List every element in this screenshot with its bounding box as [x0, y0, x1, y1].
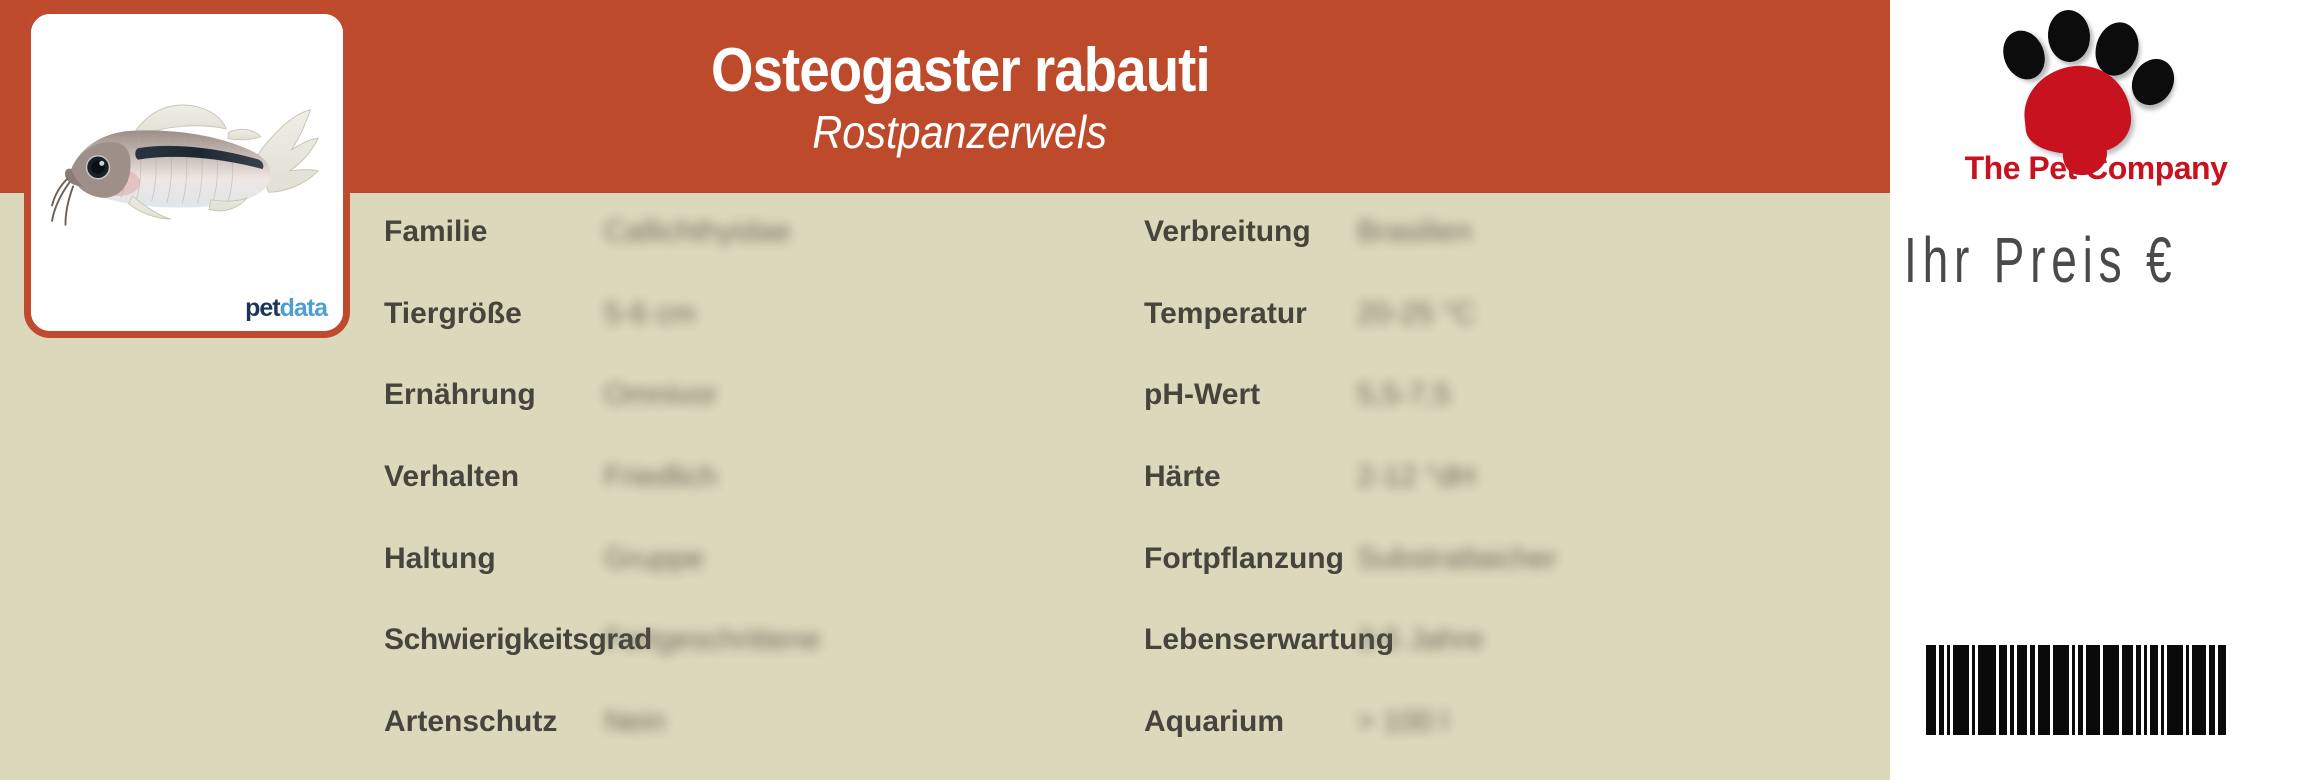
attribute-row: Artenschutz Nein — [384, 683, 1134, 765]
attribute-label: pH-Wert — [1144, 378, 1260, 412]
barcode-bar — [2078, 645, 2083, 735]
barcode-bar — [2053, 645, 2069, 735]
barcode-bar — [2086, 645, 2100, 735]
price-label: Osteogaster rabauti Rostpanzerwels — [0, 0, 2303, 780]
barcode-bar — [2161, 645, 2164, 735]
attribute-row: Haltung Gruppe — [384, 520, 1134, 602]
info-panel: Osteogaster rabauti Rostpanzerwels — [0, 0, 1890, 780]
title-block: Osteogaster rabauti Rostpanzerwels — [340, 4, 1580, 192]
attribute-grid: Familie Callichthyidae Tiergröße 5-6 cm … — [0, 193, 1890, 780]
attribute-value: Brasilien — [1357, 215, 1472, 249]
attribute-value: 5-6 cm — [604, 297, 696, 331]
attribute-label: Aquarium — [1144, 705, 1284, 739]
paw-print-icon — [1996, 6, 2208, 148]
attribute-row: Schwierigkeitsgrad Fortgeschrittene — [384, 601, 1134, 683]
attribute-label: Artenschutz — [384, 705, 557, 739]
attribute-label: Tiergröße — [384, 297, 522, 331]
barcode-icon — [1926, 645, 2266, 735]
barcode-bar — [2103, 645, 2119, 735]
barcode-bar — [1926, 645, 1936, 735]
attribute-value: Callichthyidae — [604, 215, 791, 249]
attribute-value: 5,5-7,5 — [1357, 378, 1450, 412]
attribute-row: Härte 2-12 °dH — [1144, 438, 1890, 520]
barcode-bar — [2209, 645, 2215, 735]
attribute-value: Nein — [604, 705, 666, 739]
scientific-name: Osteogaster rabauti — [711, 39, 1210, 102]
price-field: Ihr Preis € — [1904, 200, 2303, 320]
attribute-value: 2-12 °dH — [1357, 460, 1476, 494]
attribute-row: pH-Wert 5,5-7,5 — [1144, 356, 1890, 438]
attribute-column-left: Familie Callichthyidae Tiergröße 5-6 cm … — [384, 193, 1134, 780]
attribute-label: Haltung — [384, 542, 496, 576]
brand-logo: The Pet Company — [1918, 2, 2274, 198]
barcode-bar — [2136, 645, 2141, 735]
price-label-text: Ihr Preis € — [1904, 223, 2177, 297]
barcode-bar — [2150, 645, 2158, 735]
attribute-row: Fortpflanzung Substratlaicher — [1144, 520, 1890, 602]
attribute-row: Temperatur 20-25 °C — [1144, 275, 1890, 357]
barcode-bar — [2072, 645, 2075, 735]
barcode-bar — [1978, 645, 1996, 735]
attribute-row: Lebenserwartung 3-5 Jahre — [1144, 601, 1890, 683]
brand-name: The Pet Company — [1918, 150, 2274, 187]
barcode-bar — [2038, 645, 2050, 735]
barcode-bar — [2030, 645, 2035, 735]
attribute-value: Gruppe — [604, 542, 704, 576]
barcode-bar — [2192, 645, 2206, 735]
barcode-bar — [2122, 645, 2133, 735]
barcode-bar — [2186, 645, 2189, 735]
attribute-label: Verhalten — [384, 460, 519, 494]
attribute-row: Verbreitung Brasilien — [1144, 193, 1890, 275]
attribute-label: Ernährung — [384, 378, 536, 412]
attribute-value: 3-5 Jahre — [1357, 623, 1484, 657]
paw-toe — [2046, 9, 2092, 64]
attribute-value: Fortgeschrittene — [604, 623, 821, 657]
barcode-bar — [2017, 645, 2027, 735]
attribute-row: Verhalten Friedlich — [384, 438, 1134, 520]
attribute-row: Ernährung Omnivor — [384, 356, 1134, 438]
attribute-value: Substratlaicher — [1357, 542, 1557, 576]
attribute-label: Härte — [1144, 460, 1221, 494]
barcode-bar — [1953, 645, 1969, 735]
barcode-bar — [2010, 645, 2014, 735]
attribute-label: Fortpflanzung — [1144, 542, 1344, 576]
attribute-row: Tiergröße 5-6 cm — [384, 275, 1134, 357]
barcode-bar — [2167, 645, 2183, 735]
price-strip: The Pet Company Ihr Preis € — [1890, 0, 2303, 780]
attribute-row: Familie Callichthyidae — [384, 193, 1134, 275]
barcode-bar — [2218, 645, 2226, 735]
attribute-label: Temperatur — [1144, 297, 1307, 331]
attribute-value: 20-25 °C — [1357, 297, 1476, 331]
barcode-bar — [1999, 645, 2007, 735]
barcode-bar — [1947, 645, 1950, 735]
attribute-value: Friedlich — [604, 460, 717, 494]
attribute-label: Verbreitung — [1144, 215, 1311, 249]
barcode-bar — [2144, 645, 2147, 735]
barcode-bar — [1972, 645, 1975, 735]
attribute-column-right: Verbreitung Brasilien Temperatur 20-25 °… — [1144, 193, 1890, 780]
attribute-row: Aquarium > 100 l — [1144, 683, 1890, 765]
attribute-value: > 100 l — [1357, 705, 1448, 739]
attribute-label: Familie — [384, 215, 487, 249]
common-name: Rostpanzerwels — [813, 108, 1108, 156]
barcode-bar — [1939, 645, 1944, 735]
attribute-value: Omnivor — [604, 378, 717, 412]
